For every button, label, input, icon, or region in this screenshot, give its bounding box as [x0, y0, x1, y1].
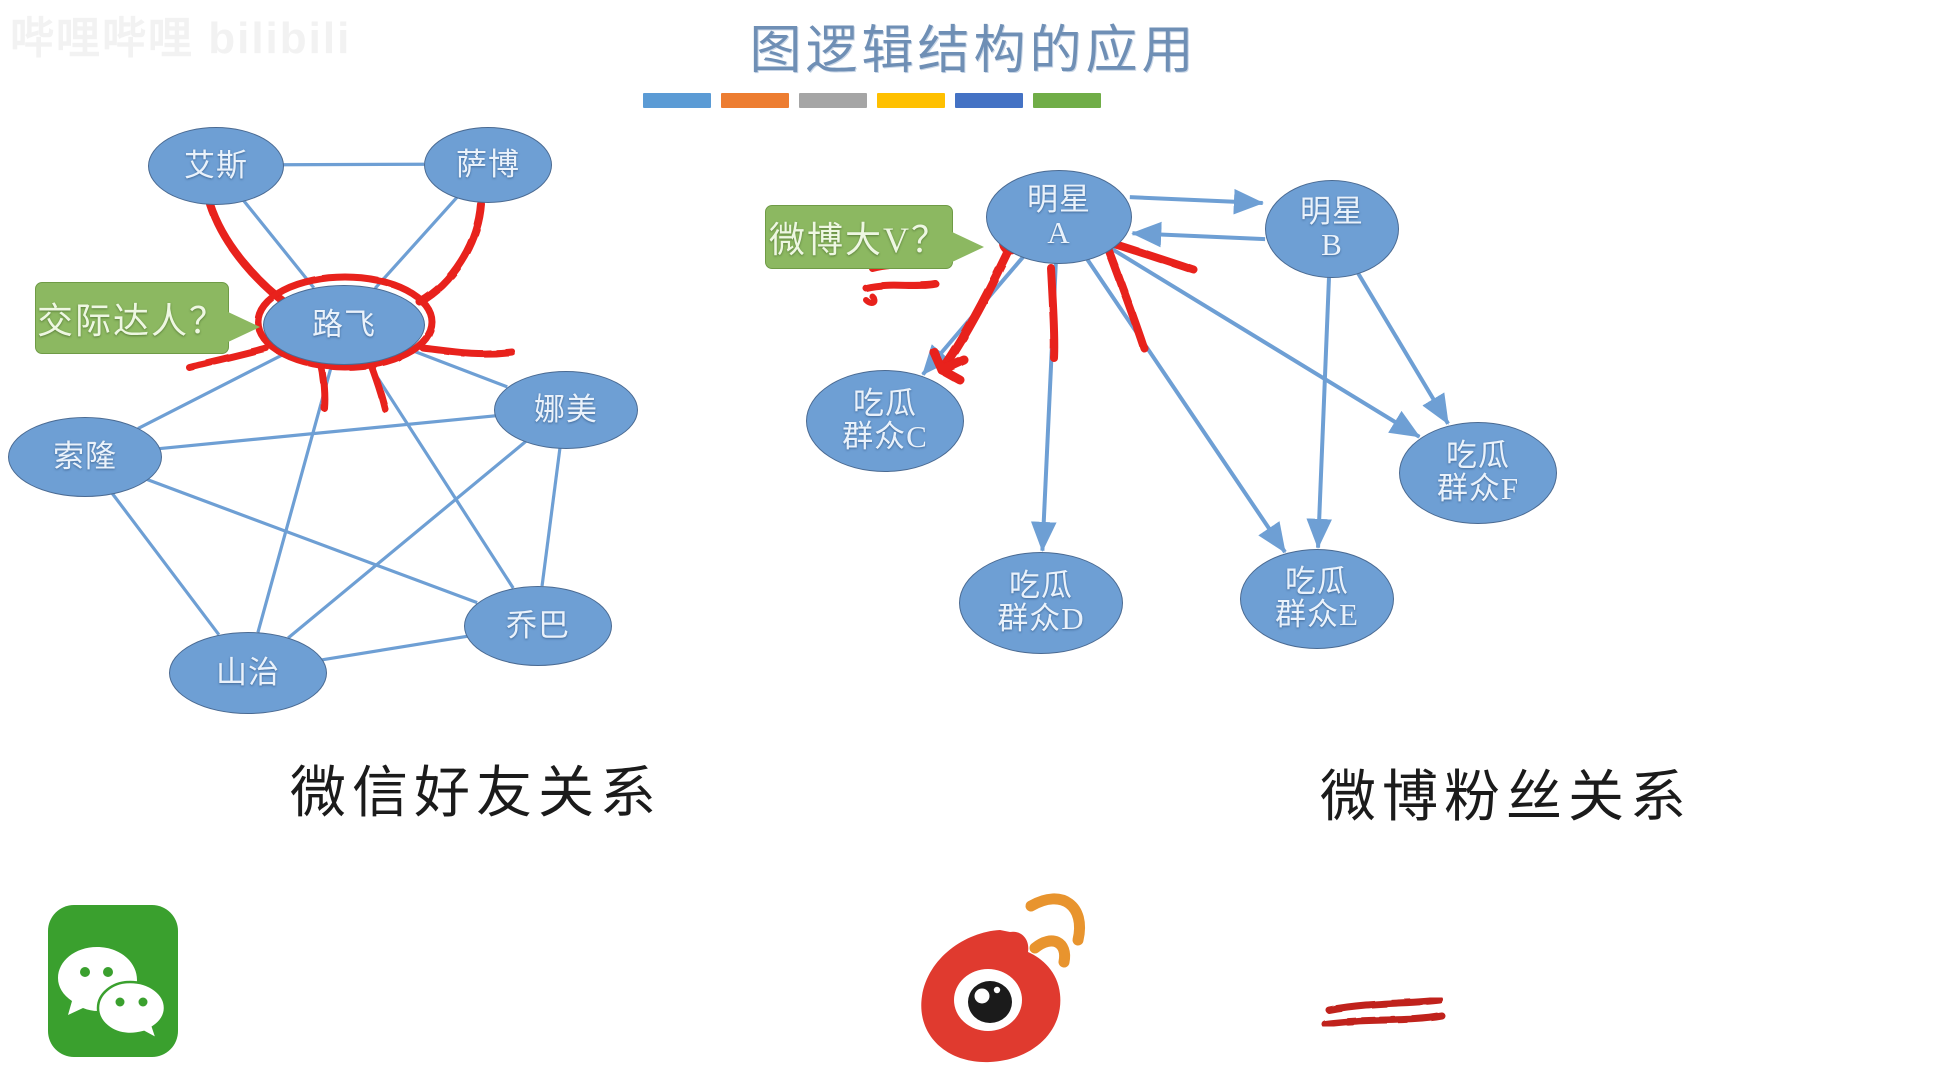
weibo-node-starB[interactable]: 明星 B — [1265, 180, 1399, 278]
weibo-edge-starB-fanF — [1357, 272, 1448, 424]
weibo-node-fanF[interactable]: 吃瓜 群众F — [1399, 422, 1557, 524]
caption-weibo: 微博粉丝关系 — [1320, 752, 1692, 833]
wechat-node-label: 乔巴 — [506, 610, 570, 643]
weibo-node-fanE[interactable]: 吃瓜 群众E — [1240, 549, 1394, 649]
callout-socialite: 交际达人？ — [35, 282, 229, 354]
wechat-edge-nami-chopper — [542, 447, 560, 586]
weibo-logo — [921, 899, 1079, 1062]
weibo-node-label: 吃瓜 群众C — [842, 388, 928, 454]
weibo-edge-starA-fanF — [1110, 248, 1419, 437]
wechat-edge-ace-sabo — [282, 164, 424, 165]
caption-wechat: 微信好友关系 — [290, 748, 662, 829]
slide-canvas: 哔哩哔哩 bilibili 图逻辑结构的应用 — [0, 0, 1947, 1074]
wechat-node-sanji[interactable]: 山治 — [169, 632, 327, 714]
wechat-node-label: 娜美 — [534, 394, 598, 427]
weibo-node-starA[interactable]: 明星 A — [986, 170, 1132, 264]
wechat-edge-zoro-nami — [159, 416, 495, 449]
wechat-node-nami[interactable]: 娜美 — [494, 371, 638, 449]
wechat-node-sabo[interactable]: 萨博 — [424, 127, 552, 203]
red-underline-annotation — [1325, 1000, 1442, 1024]
callout-left-text: 交际达人？ — [37, 292, 227, 344]
weibo-node-fanC[interactable]: 吃瓜 群众C — [806, 370, 964, 472]
wechat-node-label: 索隆 — [53, 441, 117, 474]
wechat-node-label: 艾斯 — [184, 150, 248, 183]
wechat-logo — [48, 905, 178, 1057]
wechat-edge-zoro-sanji — [111, 492, 218, 634]
weibo-edge-starB-fanE — [1318, 276, 1329, 548]
callout-right-text: 微博大V？ — [769, 211, 949, 263]
callout-tail — [950, 231, 984, 263]
wechat-node-chopper[interactable]: 乔巴 — [464, 586, 612, 666]
wechat-edge-sabo-luffy — [375, 197, 457, 289]
wechat-node-luffy[interactable]: 路飞 — [263, 285, 425, 365]
weibo-node-label: 吃瓜 群众F — [1437, 440, 1519, 506]
wechat-node-label: 山治 — [216, 657, 280, 690]
weibo-edge-starA-fanE — [1087, 258, 1285, 552]
left-graph-edges — [111, 164, 560, 660]
callout-big-v: 微博大V？ — [765, 205, 953, 269]
wechat-node-label: 萨博 — [456, 149, 520, 182]
callout-tail — [226, 311, 260, 343]
weibo-node-label: 明星 A — [1027, 184, 1091, 250]
weibo-node-label: 吃瓜 群众E — [1275, 566, 1359, 632]
wechat-node-zoro[interactable]: 索隆 — [8, 417, 162, 497]
weibo-node-label: 吃瓜 群众D — [997, 570, 1084, 636]
wechat-edge-sanji-chopper — [321, 636, 467, 660]
weibo-edge-starB-starA — [1132, 233, 1265, 239]
weibo-node-fanD[interactable]: 吃瓜 群众D — [959, 552, 1123, 654]
graph-edges-layer — [0, 0, 1947, 1074]
wechat-edge-zoro-chopper — [145, 479, 477, 603]
weibo-node-label: 明星 B — [1300, 196, 1364, 262]
wechat-node-label: 路飞 — [312, 309, 376, 342]
wechat-node-ace[interactable]: 艾斯 — [148, 127, 284, 205]
weibo-edge-starA-starB — [1130, 197, 1263, 203]
